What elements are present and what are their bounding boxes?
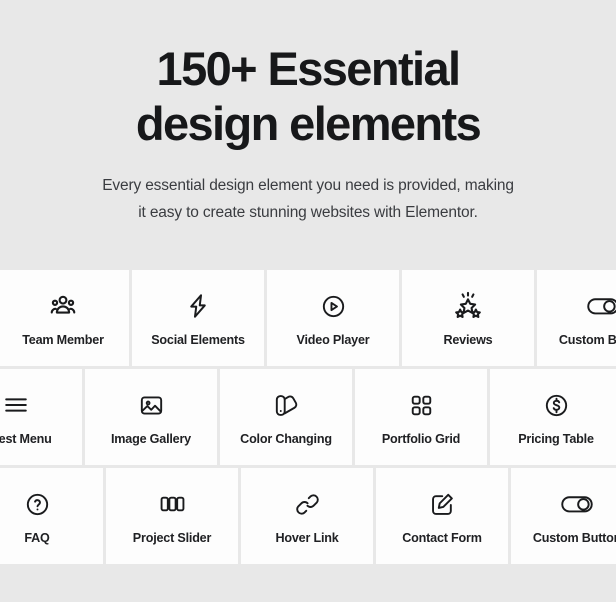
pencil-square-icon <box>429 487 456 521</box>
element-card-label: Reviews <box>443 333 492 347</box>
element-card-label: Project Slider <box>133 531 211 545</box>
element-card-label: FAQ <box>24 531 49 545</box>
element-card[interactable]: Project Slider <box>106 468 238 564</box>
element-cards-row-1: Team Member Social Elements Video Player… <box>0 270 616 366</box>
chain-link-icon <box>294 487 321 521</box>
element-card[interactable]: Hover Link <box>241 468 373 564</box>
element-card-label: Custom Button <box>533 531 616 545</box>
slider-columns-icon <box>158 487 187 521</box>
element-card[interactable]: Social Elements <box>132 270 264 366</box>
page-title: 150+ Essential design elements <box>28 42 588 151</box>
element-card-label: Team Member <box>22 333 104 347</box>
three-stars-icon <box>452 289 484 323</box>
element-card-label: Pricing Table <box>518 432 594 446</box>
element-card[interactable]: Video Player <box>267 270 399 366</box>
element-card-label: Image Gallery <box>111 432 191 446</box>
dollar-circle-icon <box>543 388 570 422</box>
element-card-label: Video Player <box>297 333 370 347</box>
element-card[interactable]: Reviews <box>402 270 534 366</box>
element-card[interactable]: Custom Button <box>537 270 616 366</box>
page-subtitle: Every essential design element you need … <box>48 173 568 226</box>
toggle-switch-icon <box>561 487 593 521</box>
play-circle-icon <box>320 289 347 323</box>
element-card[interactable]: FAQ <box>0 468 103 564</box>
element-card[interactable]: Portfolio Grid <box>355 369 487 465</box>
page-subtitle-line-1: Every essential design element you need … <box>48 173 568 200</box>
element-card[interactable]: Team Member <box>0 270 129 366</box>
image-picture-icon <box>138 388 165 422</box>
element-card-label: Social Elements <box>151 333 245 347</box>
color-swatch-icon <box>273 388 300 422</box>
element-card[interactable]: Color Changing <box>220 369 352 465</box>
question-circle-icon <box>24 487 51 521</box>
hamburger-menu-icon <box>2 388 30 422</box>
element-card-label: Portfolio Grid <box>382 432 460 446</box>
four-dots-grid-icon <box>408 388 435 422</box>
element-card-label: Color Changing <box>240 432 332 446</box>
page-title-line-2: design elements <box>28 97 588 152</box>
team-members-icon <box>48 289 78 323</box>
page-subtitle-line-2: it easy to create stunning websites with… <box>48 200 568 227</box>
toggle-switch-icon <box>587 289 616 323</box>
element-card-label: Custom Button <box>559 333 616 347</box>
element-card-label: Latest Menu <box>0 432 52 446</box>
lightning-bolt-icon <box>184 289 212 323</box>
element-cards-grid: Team Member Social Elements Video Player… <box>0 270 616 567</box>
element-cards-row-2: Latest Menu Image Gallery Color Changing… <box>0 369 616 465</box>
element-card-label: Hover Link <box>275 531 338 545</box>
page-title-line-1: 150+ Essential <box>28 42 588 97</box>
element-card[interactable]: Pricing Table <box>490 369 616 465</box>
element-card-label: Contact Form <box>402 531 481 545</box>
element-card[interactable]: Latest Menu <box>0 369 82 465</box>
hero-section: 150+ Essential design elements Every ess… <box>0 0 616 226</box>
element-cards-row-3: FAQ Project Slider Hover Link Contact Fo… <box>0 468 616 564</box>
element-card[interactable]: Custom Button <box>511 468 616 564</box>
element-card[interactable]: Contact Form <box>376 468 508 564</box>
element-card[interactable]: Image Gallery <box>85 369 217 465</box>
